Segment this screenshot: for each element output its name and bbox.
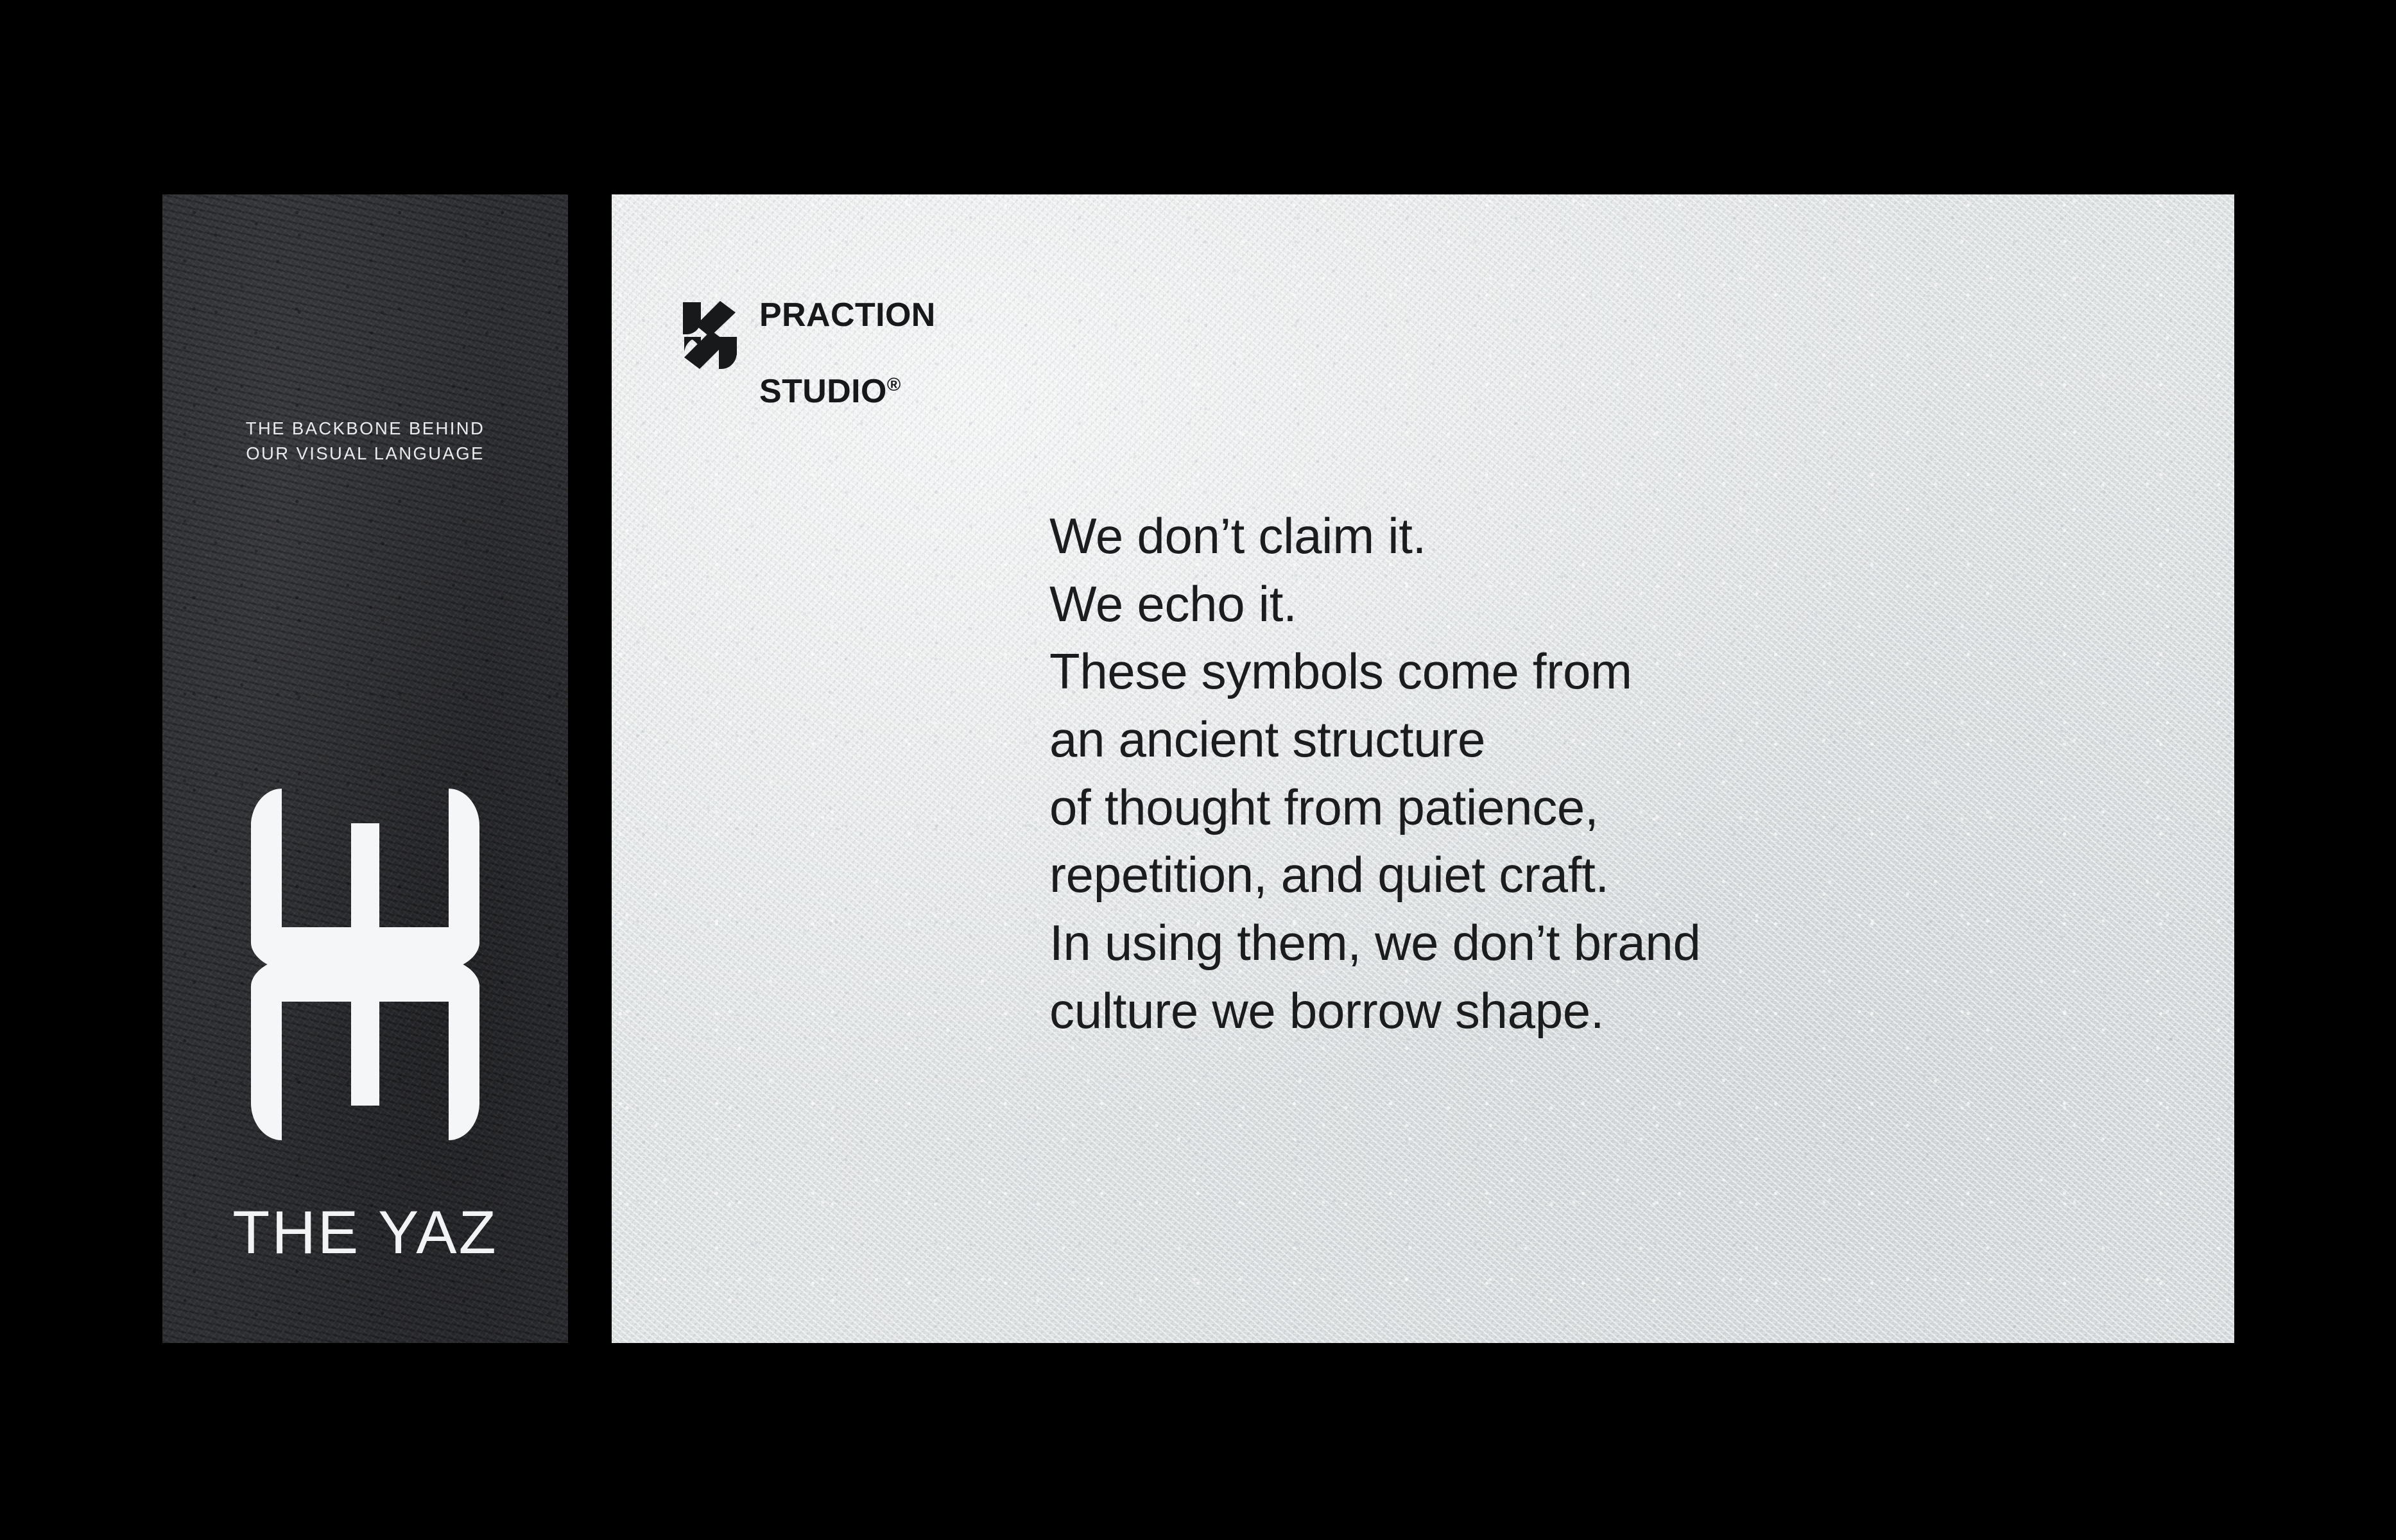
statement-copy: We don’t claim it. We echo it. These sym… [1049,502,1701,1045]
brand-name-line-2: STUDIO [759,373,887,410]
page-root: { "colors": { "backdrop": "#000000", "da… [0,0,2396,1540]
dark-panel-content: THE BACKBONE BEHIND OUR VISUAL LANGUAGE [162,194,568,1343]
brand-lockup: PRACTION STUDIO® [680,259,936,411]
dark-cover-panel: THE BACKBONE BEHIND OUR VISUAL LANGUAGE [162,194,568,1343]
praction-x-mark-icon [680,297,739,373]
brand-name-line-1: PRACTION [759,296,936,334]
light-panel-content: PRACTION STUDIO® We don’t claim it. We e… [612,194,2234,1343]
light-statement-panel: PRACTION STUDIO® We don’t claim it. We e… [612,194,2234,1343]
registered-trademark-icon: ® [887,375,901,395]
brand-name: PRACTION STUDIO® [759,259,936,411]
panel-kicker-text: THE BACKBONE BEHIND OUR VISUAL LANGUAGE [162,416,568,466]
yaz-glyph-icon [237,785,494,1144]
panel-wordmark: THE YAZ [162,1202,568,1263]
